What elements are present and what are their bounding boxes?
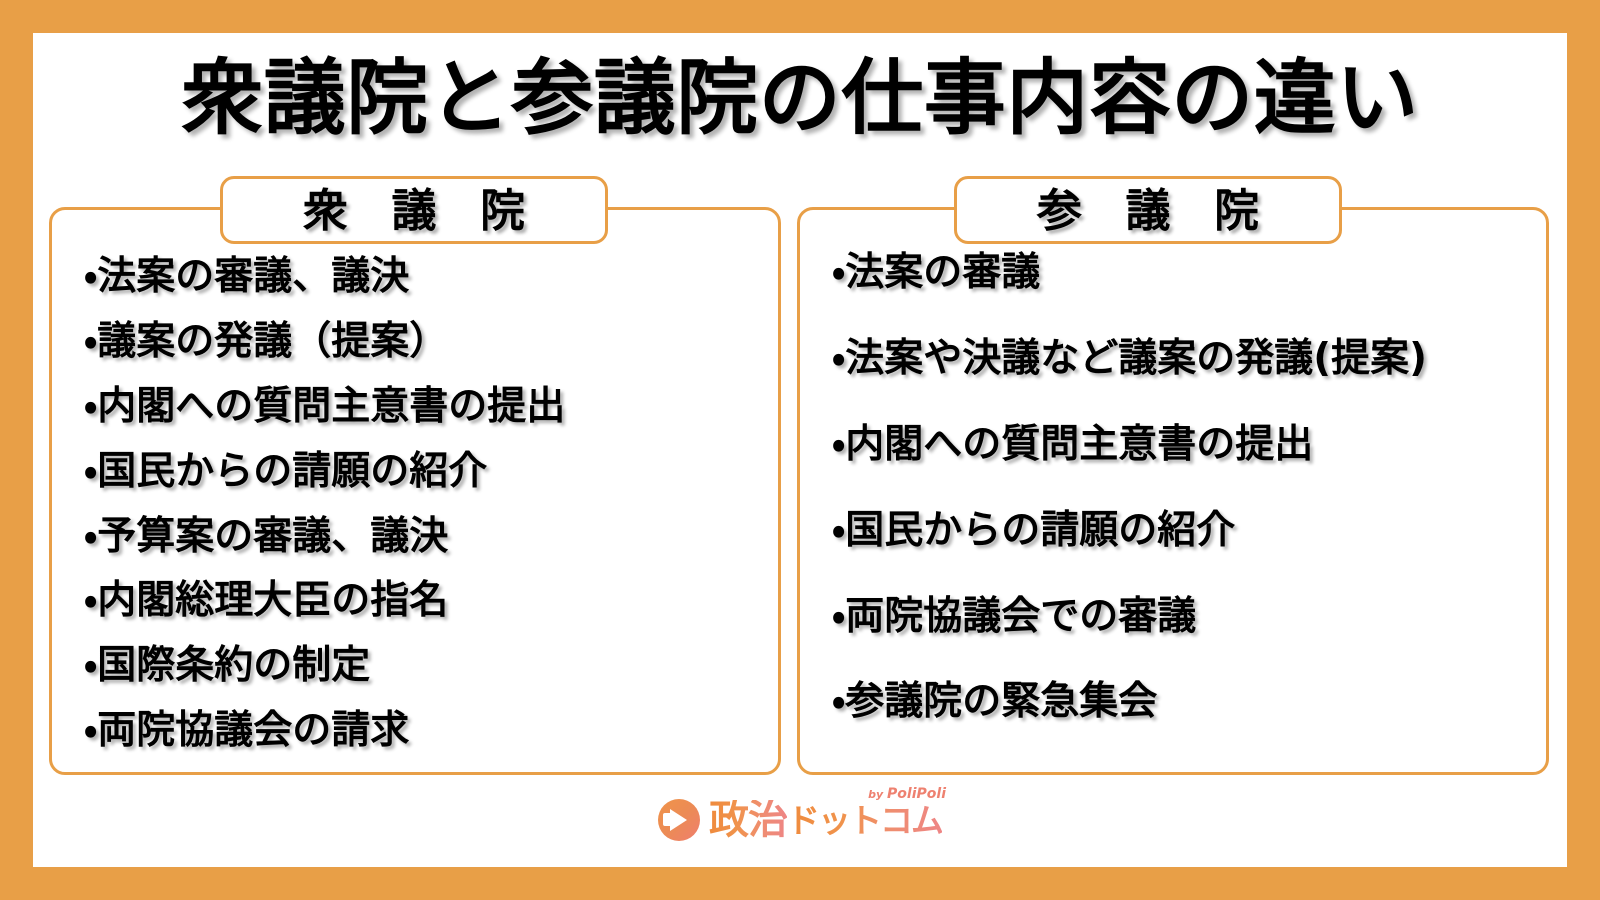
list-item: ・内閣への質問主意書の提出 — [84, 386, 778, 429]
logo-by-polipoli: by PoliPoli — [868, 787, 946, 801]
infographic-page: 衆議院と参議院の仕事内容の違い 衆 議 院 ・法案の審議、議決 ・議案の発議（提… — [0, 0, 1600, 900]
panel-badge-shugiin: 衆 議 院 — [220, 176, 608, 244]
duty-list-sangiin: ・法案の審議 ・法案や決議など議案の発議(提案) ・内閣への質問主意書の提出 ・… — [800, 252, 1546, 767]
list-item: ・法案の審議 — [832, 252, 1546, 295]
list-item: ・国際条約の制定 — [84, 645, 778, 688]
list-item: ・法案や決議など議案の発議(提案) — [832, 338, 1546, 381]
list-item: ・内閣総理大臣の指名 — [84, 580, 778, 623]
panel-sangiin: 参 議 院 ・法案の審議 ・法案や決議など議案の発議(提案) ・内閣への質問主意… — [797, 207, 1549, 775]
content-canvas: 衆議院と参議院の仕事内容の違い 衆 議 院 ・法案の審議、議決 ・議案の発議（提… — [33, 33, 1567, 867]
page-title: 衆議院と参議院の仕事内容の違い — [33, 55, 1567, 144]
duty-list-shugiin: ・法案の審議、議決 ・議案の発議（提案） ・内閣への質問主意書の提出 ・国民から… — [52, 256, 778, 775]
logo-wordmark-sub: ドットコム — [787, 804, 942, 837]
list-item: ・内閣への質問主意書の提出 — [832, 424, 1546, 467]
logo-wordmark-main: 政治 — [709, 800, 787, 840]
list-item: ・国民からの請願の紹介 — [832, 510, 1546, 553]
logo-inner: 政治 ドットコム by PoliPoli — [658, 799, 942, 841]
logo-by-name: PoliPoli — [887, 786, 946, 802]
logo-by-prefix: by — [868, 788, 887, 801]
panel-badge-sangiin: 参 議 院 — [954, 176, 1342, 244]
list-item: ・法案の審議、議決 — [84, 256, 778, 299]
panel-badge-label: 参 議 院 — [1023, 180, 1273, 242]
site-logo: 政治 ドットコム by PoliPoli — [33, 785, 1567, 855]
panel-badge-label: 衆 議 院 — [289, 180, 539, 242]
list-item: ・両院協議会の請求 — [84, 710, 778, 753]
list-item: ・国民からの請願の紹介 — [84, 451, 778, 494]
list-item: ・両院協議会での審議 — [832, 596, 1546, 639]
list-item: ・議案の発議（提案） — [84, 321, 778, 364]
list-item: ・参議院の緊急集会 — [832, 681, 1546, 724]
comparison-panels: 衆 議 院 ・法案の審議、議決 ・議案の発議（提案） ・内閣への質問主意書の提出… — [33, 175, 1567, 775]
list-item: ・予算案の審議、議決 — [84, 516, 778, 559]
polipoli-arrow-icon — [658, 799, 700, 841]
panel-shugiin: 衆 議 院 ・法案の審議、議決 ・議案の発議（提案） ・内閣への質問主意書の提出… — [49, 207, 781, 775]
